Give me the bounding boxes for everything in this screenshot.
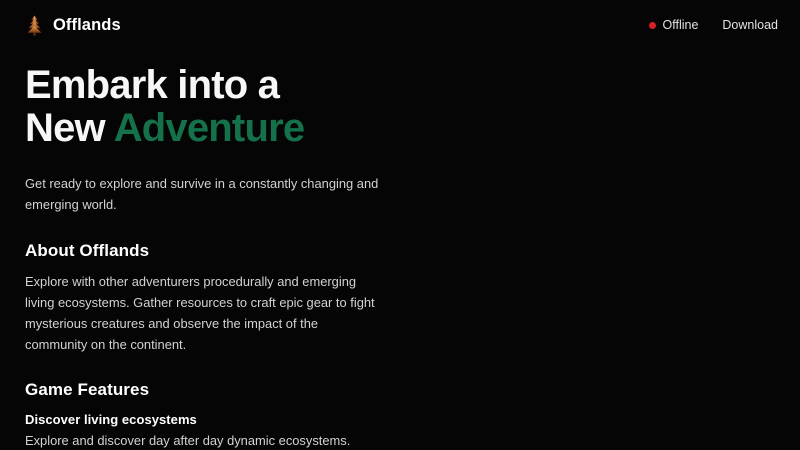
feature-title: Discover living ecosystems bbox=[25, 412, 395, 427]
page-title: Embark into a New Adventure bbox=[25, 64, 395, 150]
page-root: Offlands Offline Download Embark into a … bbox=[0, 0, 800, 450]
pinecone-icon bbox=[25, 15, 44, 36]
features-heading: Game Features bbox=[25, 380, 395, 400]
download-link[interactable]: Download bbox=[722, 18, 778, 32]
status-badge: Offline bbox=[649, 18, 699, 32]
feature-text: Explore and discover day after day dynam… bbox=[25, 431, 377, 450]
brand-logo-link[interactable]: Offlands bbox=[25, 15, 121, 36]
status-dot-icon bbox=[649, 22, 656, 29]
about-heading: About Offlands bbox=[25, 241, 395, 261]
status-label: Offline bbox=[663, 18, 699, 32]
about-section: About Offlands Explore with other advent… bbox=[25, 241, 395, 356]
hero-title-line1: Embark into a bbox=[25, 63, 279, 107]
hero-title-line2-plain: New bbox=[25, 106, 114, 150]
about-body: Explore with other adventurers procedura… bbox=[25, 272, 375, 356]
header-nav: Offline Download bbox=[649, 18, 779, 32]
features-section: Game Features Discover living ecosystems… bbox=[25, 380, 395, 450]
hero-subtitle: Get ready to explore and survive in a co… bbox=[25, 174, 385, 216]
feature-item: Discover living ecosystems Explore and d… bbox=[25, 412, 395, 450]
hero-title-line2-accent: Adventure bbox=[114, 106, 305, 150]
main-content: Embark into a New Adventure Get ready to… bbox=[0, 50, 420, 450]
brand-name: Offlands bbox=[53, 16, 121, 35]
site-header: Offlands Offline Download bbox=[0, 0, 800, 50]
